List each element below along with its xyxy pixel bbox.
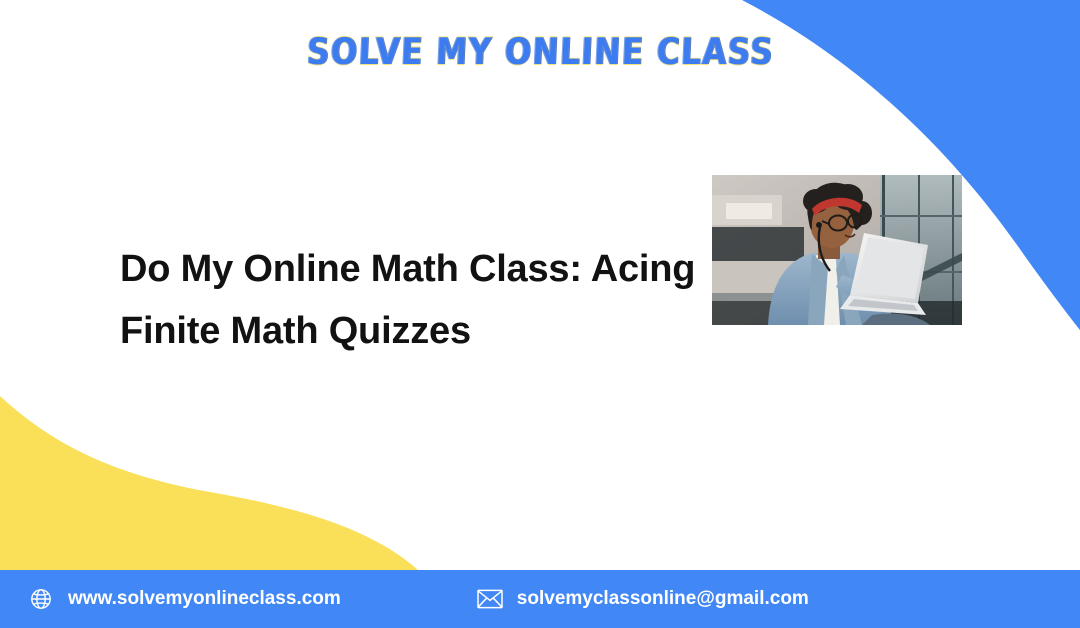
footer-website-text: www.solvemyonlineclass.com [68,588,341,610]
globe-icon [28,586,54,612]
yellow-corner-shape [0,396,418,570]
hero-image [712,175,962,325]
footer-website[interactable]: www.solvemyonlineclass.com [28,586,341,612]
footer-email-text: solvemyclassonline@gmail.com [517,588,809,610]
page-title: Do My Online Math Class: Acing Finite Ma… [120,239,720,362]
footer-email[interactable]: solvemyclassonline@gmail.com [477,586,809,612]
hero-image-illustration [712,175,962,325]
site-logo-text: SOLVE MY ONLINE CLASS [306,31,775,73]
site-logo[interactable]: SOLVE MY ONLINE CLASS [0,34,1080,70]
promo-banner: SOLVE MY ONLINE CLASS Do My Online Math … [0,0,1080,628]
envelope-icon [477,586,503,612]
contact-footer: www.solvemyonlineclass.com solvemyclasso… [0,570,1080,628]
